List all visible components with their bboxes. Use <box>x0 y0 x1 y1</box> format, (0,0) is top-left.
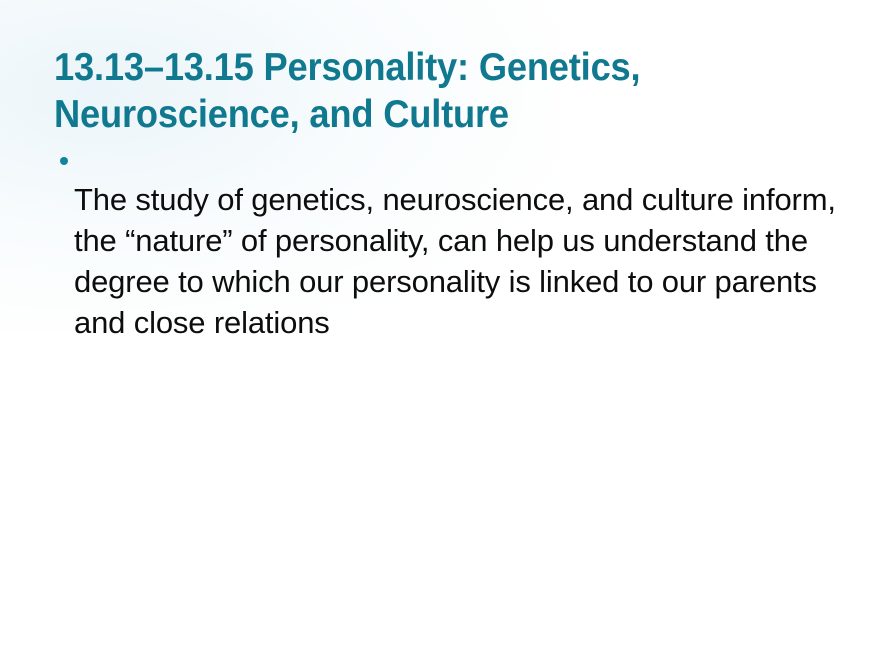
slide-title: 13.13–13.15 Personality: Genetics, Neuro… <box>54 44 798 138</box>
presentation-slide: 13.13–13.15 Personality: Genetics, Neuro… <box>0 0 880 660</box>
list-item: The study of genetics, neuroscience, and… <box>60 148 860 374</box>
slide-body: The study of genetics, neuroscience, and… <box>60 148 860 374</box>
bullet-text: The study of genetics, neuroscience, and… <box>74 179 836 343</box>
bullet-dot-icon <box>60 157 74 165</box>
